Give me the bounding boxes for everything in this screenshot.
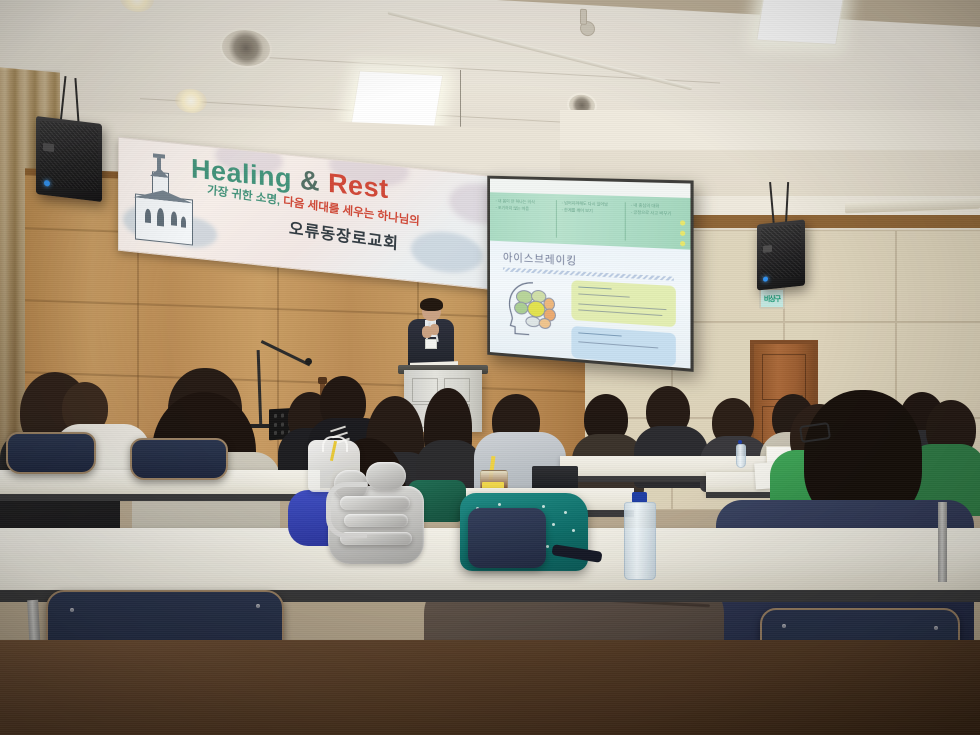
- brain-head-diagram-icon: [505, 278, 564, 339]
- slide-note-blue: [571, 326, 675, 366]
- chair[interactable]: [6, 432, 96, 474]
- slide-band-line: - 긍정으로 사고 바꾸기: [631, 208, 691, 217]
- banner-title-amp: &: [300, 165, 320, 197]
- microphone-icon: [305, 358, 312, 365]
- banner-title-rest: Rest: [328, 168, 389, 204]
- ceiling-panel-light: [351, 70, 444, 128]
- exit-sign: 비상구: [759, 288, 785, 309]
- presenter-badge: [425, 339, 437, 349]
- slide-body: 아이스브레이킹: [490, 241, 690, 369]
- exit-sign-label: 비상구: [764, 294, 780, 304]
- photo-scene: 비상구: [0, 0, 980, 735]
- navy-pouch: [468, 508, 546, 568]
- slide-title: 아이스브레이킹: [503, 249, 577, 268]
- silver-quilted-handbag: [322, 452, 430, 572]
- church-illustration-icon: [131, 153, 197, 248]
- chair[interactable]: [130, 438, 228, 480]
- water-bottle: [736, 440, 744, 466]
- slide-band-line: - 포기하지 않는 마음: [496, 204, 556, 213]
- slide-surface: - 내 몸이 안 하나는 의식 - 포기하지 않는 마음 - 넘어지려해도 다시…: [490, 179, 690, 369]
- projection-screen: - 내 몸이 안 하나는 의식 - 포기하지 않는 마음 - 넘어지려해도 다시…: [487, 176, 693, 372]
- slide-note-green: [571, 280, 675, 327]
- smoke-detector: [580, 9, 587, 25]
- ceiling-speaker-right: [757, 219, 805, 290]
- ceiling-speaker-left: [36, 116, 102, 202]
- slide-band-line: - 한계를 깨어 보기: [562, 206, 625, 215]
- ceiling-panel-light: [756, 0, 844, 45]
- water-bottle-foreground: [624, 492, 654, 578]
